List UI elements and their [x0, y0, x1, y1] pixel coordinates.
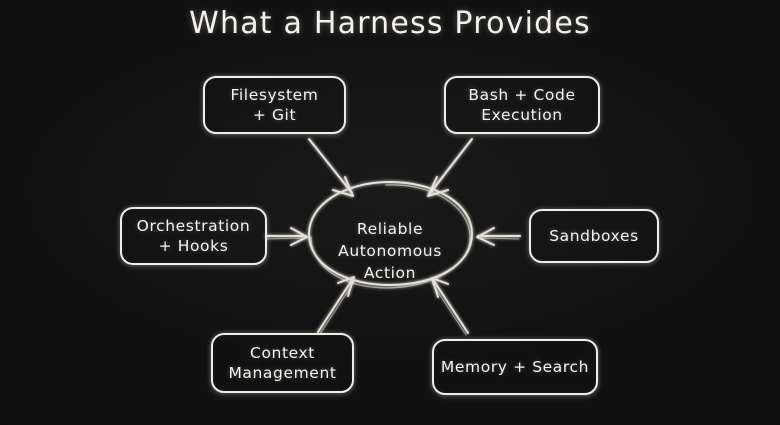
arrow-memory-to-center	[432, 278, 468, 335]
arrow-filesystem-to-center	[309, 139, 353, 196]
arrow-context-to-center	[318, 277, 354, 334]
node-label: Bash + Code Execution	[468, 85, 575, 126]
node-label: Context Management	[228, 343, 336, 384]
node-context-management[interactable]: Context Management	[211, 333, 354, 393]
center-node-label: Reliable Autonomous Action	[312, 196, 468, 284]
arrow-orchestration-to-center	[266, 228, 307, 245]
node-orchestration-hooks[interactable]: Orchestration + Hooks	[120, 207, 267, 265]
arrow-bash-to-center	[428, 139, 472, 196]
node-filesystem-git[interactable]: Filesystem + Git	[203, 76, 346, 134]
node-label: Orchestration + Hooks	[137, 216, 251, 257]
node-label: Memory + Search	[441, 357, 589, 377]
node-memory-search[interactable]: Memory + Search	[432, 339, 598, 395]
node-label: Sandboxes	[549, 226, 639, 246]
node-bash-code-execution[interactable]: Bash + Code Execution	[444, 76, 600, 134]
diagram-canvas: What a Harness Provides	[0, 0, 780, 425]
node-sandboxes[interactable]: Sandboxes	[529, 209, 659, 263]
arrow-sandboxes-to-center	[477, 228, 520, 245]
node-label: Filesystem + Git	[231, 85, 319, 126]
